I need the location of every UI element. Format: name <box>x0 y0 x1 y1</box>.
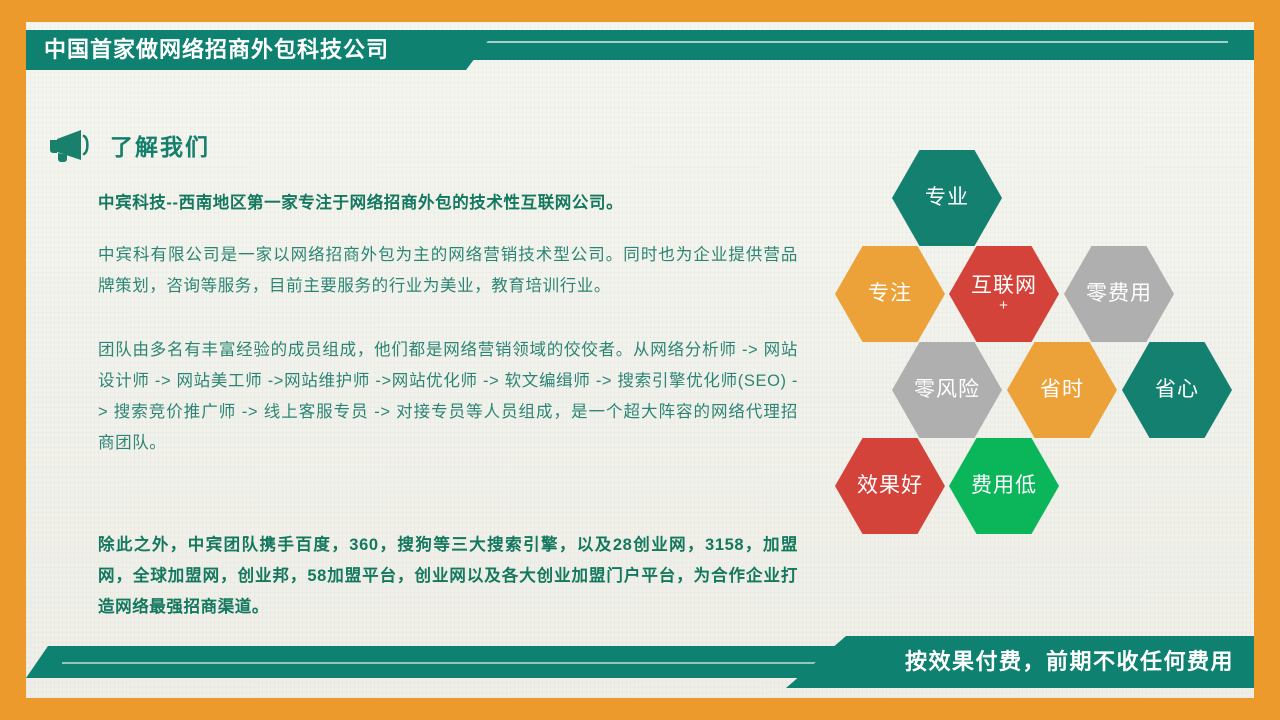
hexagon-label: 省时 <box>1040 378 1084 401</box>
hexagon-label: 专注 <box>868 282 912 305</box>
hexagon-tile: 专注 <box>835 246 945 342</box>
footer-text: 按效果付费，前期不收任何费用 <box>905 636 1234 688</box>
section-title: 了解我们 <box>110 128 210 162</box>
body-paragraph-3: 除此之外，中宾团队携手百度，360，搜狗等三大搜索引擎，以及28创业网，3158… <box>98 530 798 623</box>
hexagon-tile: 互联网+ <box>949 246 1059 342</box>
megaphone-icon <box>48 128 92 162</box>
content-column: 了解我们 中宾科技--西南地区第一家专注于网络招商外包的技术性互联网公司。 中宾… <box>26 100 816 640</box>
lead-paragraph: 中宾科技--西南地区第一家专注于网络招商外包的技术性互联网公司。 <box>98 188 798 219</box>
hexagon-cluster: 专业专注互联网+零费用零风险省时省心效果好费用低 <box>832 150 1232 550</box>
hexagon-label: 互联网 <box>971 274 1037 297</box>
hexagon-sublabel: + <box>999 298 1009 315</box>
hexagon-label: 费用低 <box>971 474 1037 497</box>
header-title: 中国首家做网络招商外包科技公司 <box>44 30 389 70</box>
footer-banner: 按效果付费，前期不收任何费用 <box>26 636 1254 698</box>
hexagon-label: 省心 <box>1155 378 1199 401</box>
hexagon-tile: 省心 <box>1122 342 1232 438</box>
hexagon-label: 零费用 <box>1086 282 1152 305</box>
header-banner: 中国首家做网络招商外包科技公司 <box>26 22 1254 84</box>
hexagon-label: 专业 <box>925 186 969 209</box>
hexagon-tile: 零风险 <box>892 342 1002 438</box>
slide-root: 中国首家做网络招商外包科技公司 了解我们 中宾科技--西南地区第一家专注于网络招… <box>0 0 1280 720</box>
body-paragraph-2: 团队由多名有丰富经验的成员组成，他们都是网络营销领域的佼佼者。从网络分析师 ->… <box>98 335 798 459</box>
hexagon-tile: 专业 <box>892 150 1002 246</box>
hexagon-tile: 效果好 <box>835 438 945 534</box>
section-heading: 了解我们 <box>48 128 210 162</box>
hexagon-label: 效果好 <box>857 474 923 497</box>
body-paragraph-1: 中宾科有限公司是一家以网络招商外包为主的网络营销技术型公司。同时也为企业提供营品… <box>98 240 798 302</box>
hexagon-label: 零风险 <box>914 378 980 401</box>
hexagon-tile: 零费用 <box>1064 246 1174 342</box>
footer-divider-line <box>62 662 914 664</box>
hexagon-tile: 费用低 <box>949 438 1059 534</box>
hexagon-tile: 省时 <box>1007 342 1117 438</box>
